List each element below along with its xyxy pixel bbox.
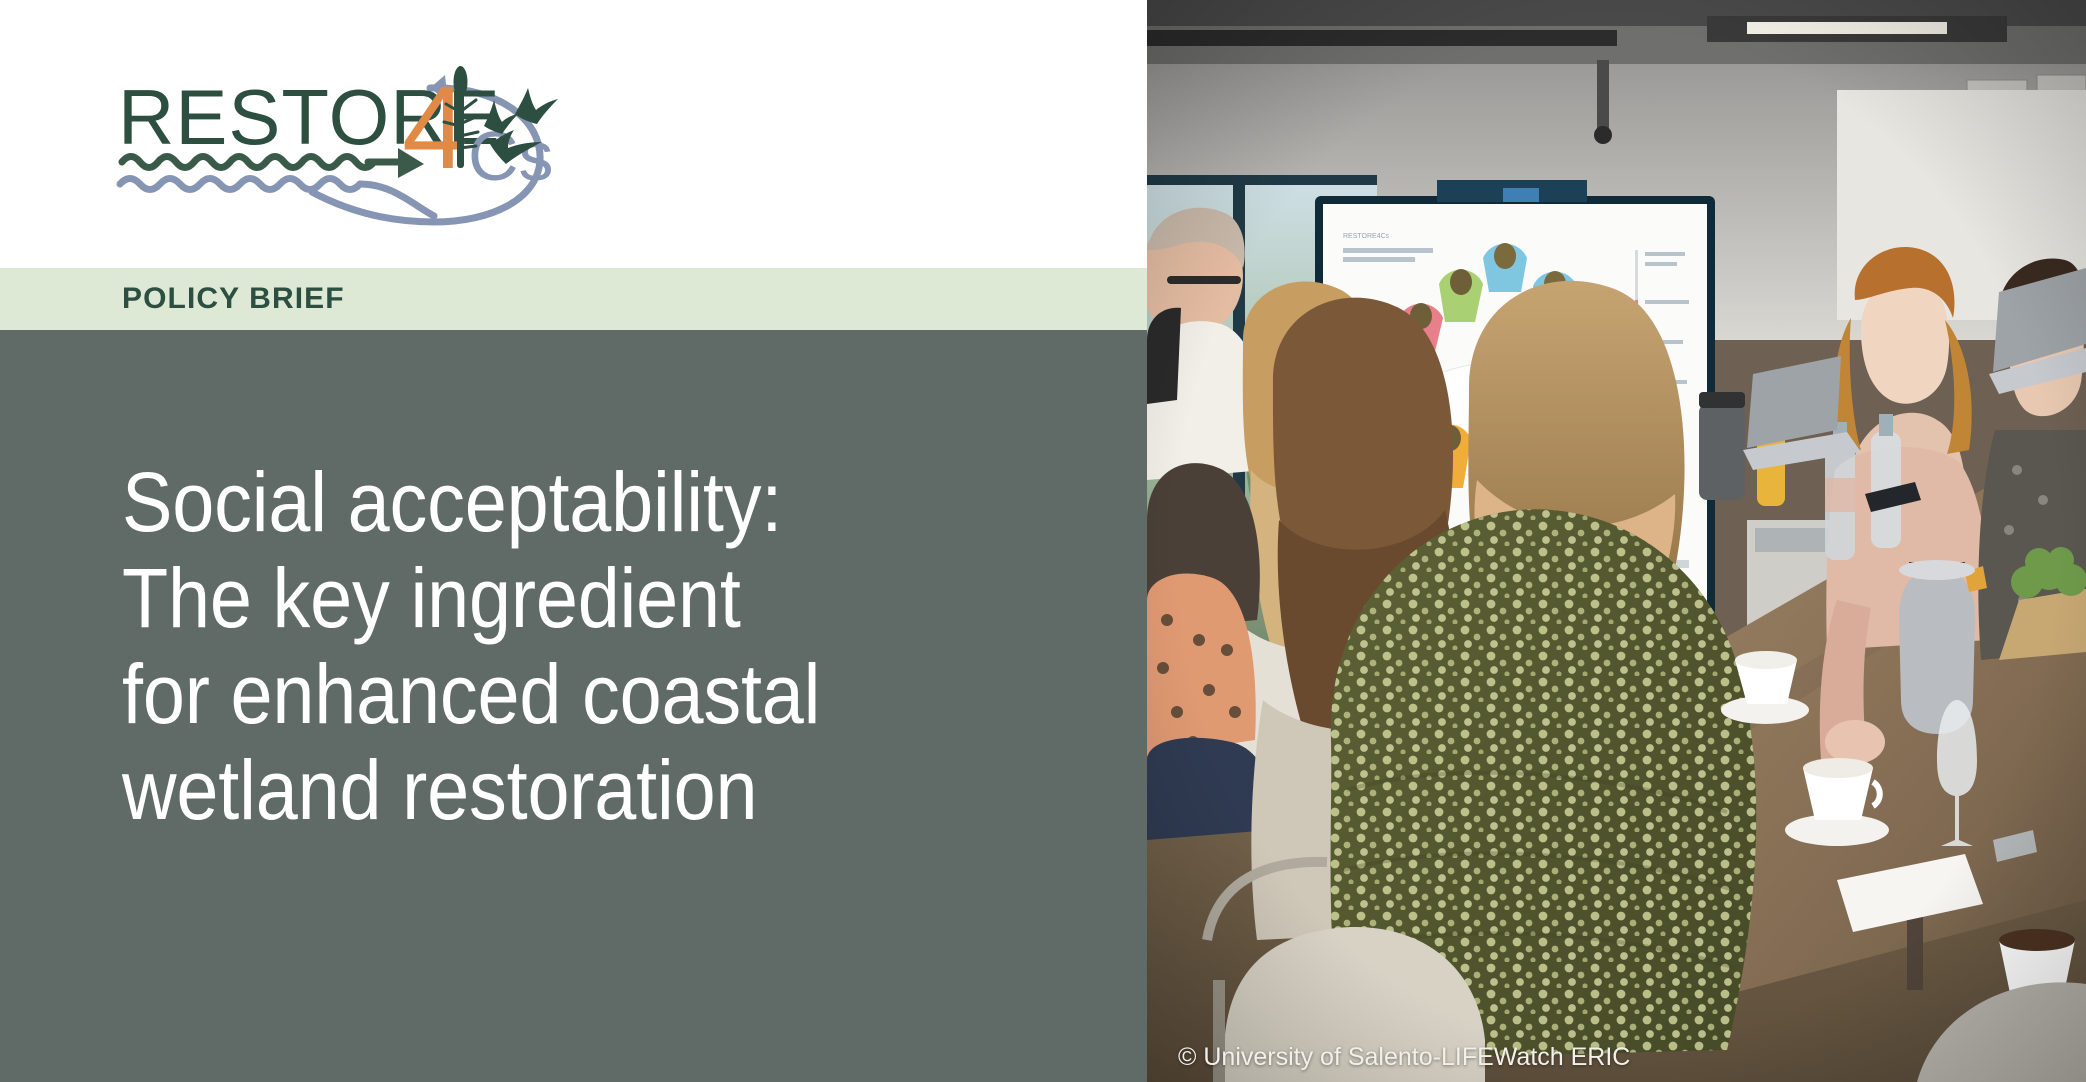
policy-brief-label: POLICY BRIEF: [122, 268, 345, 330]
meeting-photo-illustration: RESTORE4Cs: [1147, 0, 2086, 1082]
photo-credit-caption: © University of Salento-LIFEWatch ERIC: [1178, 1043, 1630, 1072]
left-column: RESTORE 4 Cs: [0, 0, 1147, 1082]
policy-brief-cover: RESTORE 4 Cs: [0, 0, 2086, 1082]
restore4cs-logo: RESTORE 4 Cs: [112, 52, 577, 227]
photo-vignette: [1147, 0, 2086, 1082]
title-line-2: The key ingredient: [122, 550, 995, 646]
logo-area: RESTORE 4 Cs: [0, 0, 1147, 268]
title-line-4: wetland restoration: [122, 742, 995, 838]
cover-photo: RESTORE4Cs: [1147, 0, 2086, 1082]
title-line-3: for enhanced coastal: [122, 646, 995, 742]
page-title: Social acceptability: The key ingredient…: [122, 454, 1092, 838]
policy-brief-banner: POLICY BRIEF: [0, 268, 1147, 330]
wave-line-blue-icon: [120, 179, 434, 217]
logo-graphic: RESTORE 4 Cs: [112, 52, 577, 227]
title-line-1: Social acceptability:: [122, 454, 995, 550]
title-panel: Social acceptability: The key ingredient…: [0, 330, 1147, 1082]
